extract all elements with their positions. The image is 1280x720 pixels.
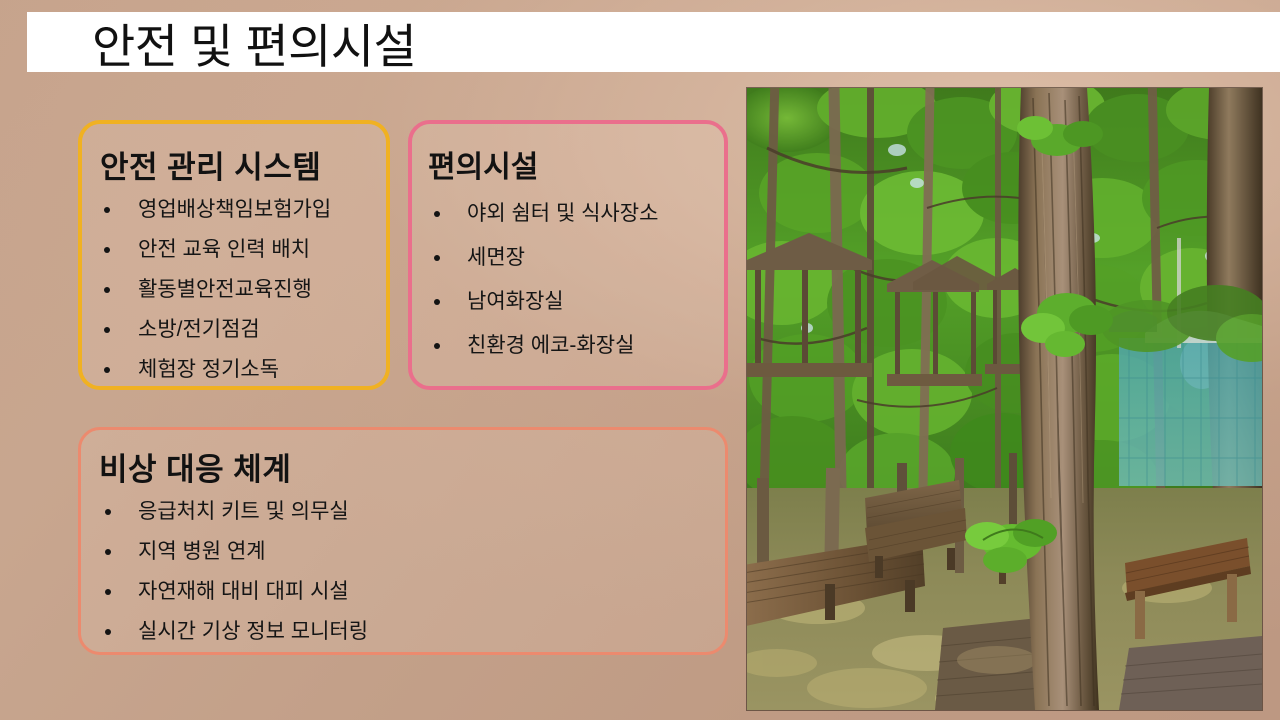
slide-root: 안전 및 편의시설 안전 관리 시스템 영업배상책임보험가입 안전 교육 인력 … <box>0 0 1280 720</box>
list-item-label: 세면장 <box>467 246 525 269</box>
forest-rest-area-photo <box>747 88 1262 710</box>
list-item: 응급처치 키트 및 의무실 <box>81 492 725 532</box>
list-item-label: 영업배상책임보험가입 <box>138 198 331 221</box>
list-item-label: 활동별안전교육진행 <box>138 278 312 301</box>
list-item-label: 자연재해 대비 대피 시설 <box>138 580 349 603</box>
list-item: 야외 쉼터 및 식사장소 <box>412 192 724 236</box>
bullet-list-convenience-facilities: 야외 쉼터 및 식사장소 세면장 남여화장실 친환경 에코-화장실 <box>412 192 724 368</box>
bullet-dot-icon <box>434 343 440 349</box>
card-convenience-facilities: 편의시설 야외 쉼터 및 식사장소 세면장 남여화장실 친환경 에코-화장실 <box>408 120 728 390</box>
bullet-dot-icon <box>434 211 440 217</box>
list-item: 소방/전기점검 <box>82 310 386 350</box>
list-item: 남여화장실 <box>412 280 724 324</box>
list-item-label: 체험장 정기소독 <box>138 358 279 381</box>
page-title: 안전 및 편의시설 <box>92 17 416 77</box>
bullet-dot-icon <box>104 247 110 253</box>
list-item: 실시간 기상 정보 모니터링 <box>81 612 725 652</box>
card-safety-management-system: 안전 관리 시스템 영업배상책임보험가입 안전 교육 인력 배치 활동별안전교육… <box>78 120 390 390</box>
list-item-label: 응급처치 키트 및 의무실 <box>138 500 349 523</box>
bullet-dot-icon <box>104 207 110 213</box>
bullet-dot-icon <box>105 629 111 635</box>
list-item: 영업배상책임보험가입 <box>82 190 386 230</box>
bullet-dot-icon <box>105 509 111 515</box>
card-emergency-response-system: 비상 대응 체계 응급처치 키트 및 의무실 지역 병원 연계 자연재해 대비 … <box>78 427 728 655</box>
title-band: 안전 및 편의시설 <box>27 12 1280 72</box>
list-item: 자연재해 대비 대피 시설 <box>81 572 725 612</box>
card-title-convenience-facilities: 편의시설 <box>428 142 538 186</box>
bullet-dot-icon <box>434 255 440 261</box>
list-item-label: 실시간 기상 정보 모니터링 <box>138 620 368 643</box>
bullet-dot-icon <box>104 367 110 373</box>
list-item-label: 친환경 에코-화장실 <box>467 334 634 357</box>
list-item: 친환경 에코-화장실 <box>412 324 724 368</box>
list-item-label: 소방/전기점검 <box>138 318 260 341</box>
list-item: 체험장 정기소독 <box>82 350 386 390</box>
list-item-label: 안전 교육 인력 배치 <box>138 238 310 261</box>
list-item: 세면장 <box>412 236 724 280</box>
bullet-dot-icon <box>104 327 110 333</box>
list-item: 지역 병원 연계 <box>81 532 725 572</box>
bullet-list-safety-management-system: 영업배상책임보험가입 안전 교육 인력 배치 활동별안전교육진행 소방/전기점검… <box>82 190 386 390</box>
bullet-dot-icon <box>434 299 440 305</box>
card-title-emergency-response-system: 비상 대응 체계 <box>99 444 291 489</box>
bullet-dot-icon <box>105 589 111 595</box>
card-title-safety-management-system: 안전 관리 시스템 <box>100 142 321 187</box>
bullet-list-emergency-response-system: 응급처치 키트 및 의무실 지역 병원 연계 자연재해 대비 대피 시설 실시간… <box>81 492 725 652</box>
list-item: 안전 교육 인력 배치 <box>82 230 386 270</box>
list-item-label: 야외 쉼터 및 식사장소 <box>467 202 658 225</box>
list-item-label: 지역 병원 연계 <box>138 540 266 563</box>
bullet-dot-icon <box>105 549 111 555</box>
bullet-dot-icon <box>104 287 110 293</box>
list-item: 활동별안전교육진행 <box>82 270 386 310</box>
list-item-label: 남여화장실 <box>467 290 564 313</box>
